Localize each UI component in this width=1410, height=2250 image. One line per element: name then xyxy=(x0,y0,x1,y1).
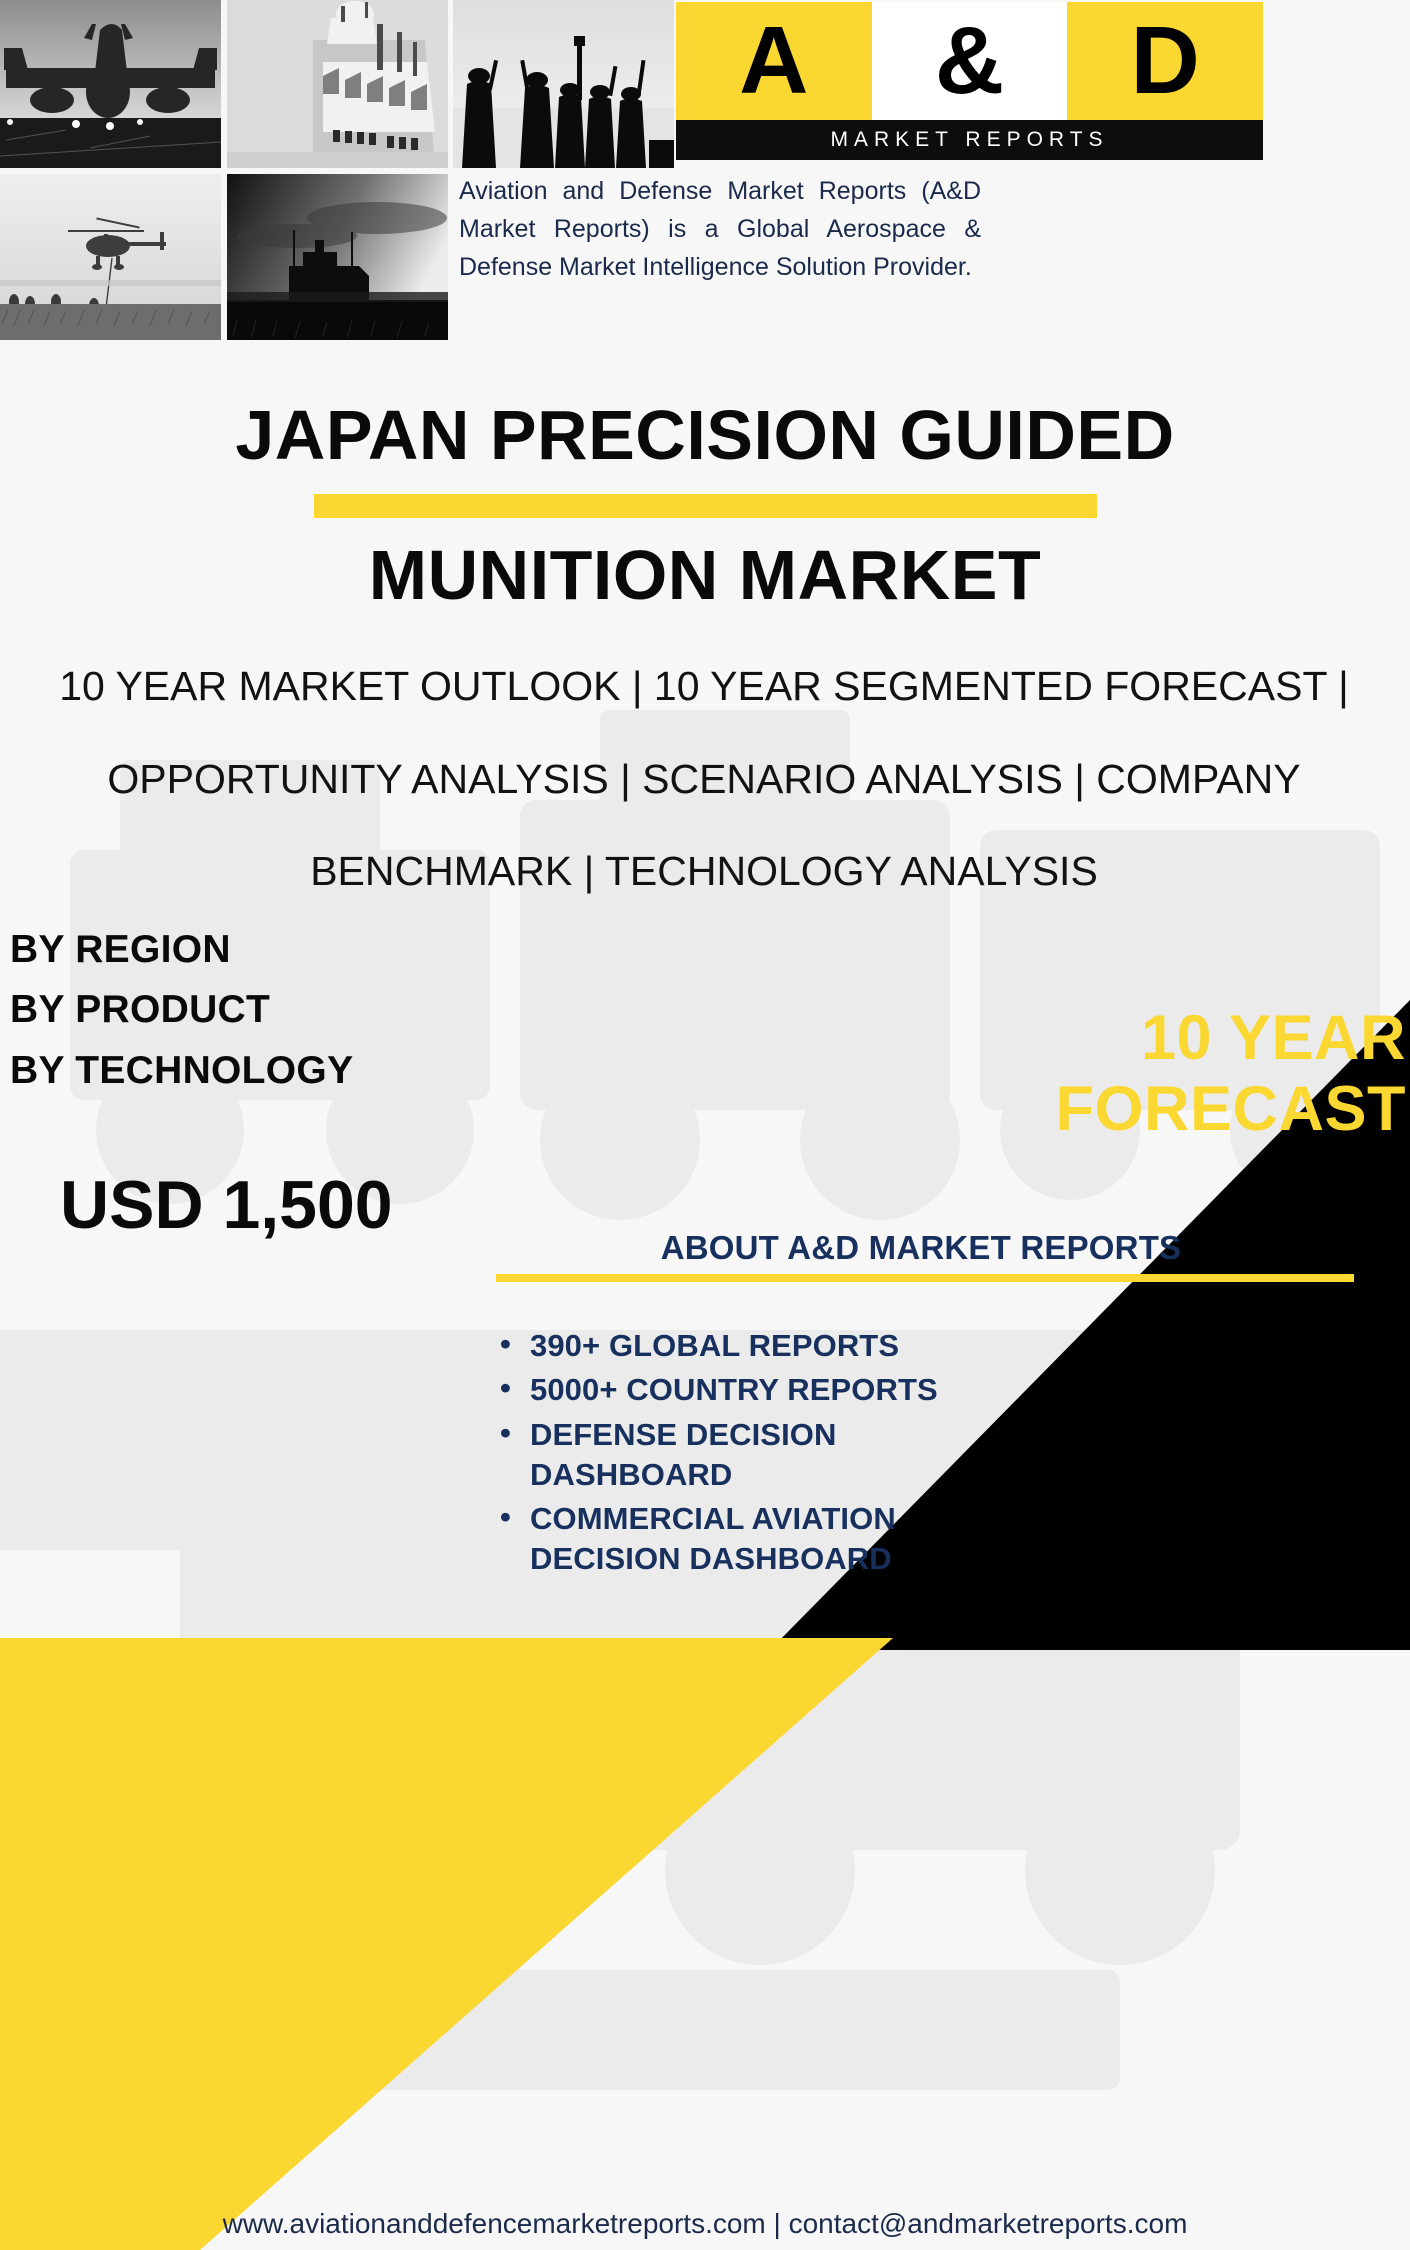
about-heading: ABOUT A&D MARKET REPORTS xyxy=(462,1229,1380,1267)
logo-tagline: MARKET REPORTS xyxy=(676,120,1263,160)
segmentation-list: BY REGION BY PRODUCT BY TECHNOLOGY xyxy=(10,920,353,1101)
forecast-line-1: 10 YEAR xyxy=(626,1003,1406,1074)
photo-collage xyxy=(0,0,678,340)
about-bullet-country-reports: 5000+ COUNTRY REPORTS xyxy=(492,1370,1380,1410)
segmentation-item-product: BY PRODUCT xyxy=(10,980,353,1040)
military-helicopter-photo xyxy=(0,174,221,340)
logo-letter-d: D xyxy=(1067,2,1263,120)
company-intro-text: Aviation and Defense Market Reports (A&D… xyxy=(459,172,981,286)
logo-letter-a: A xyxy=(676,2,872,120)
armored-vehicle-photo xyxy=(227,174,448,340)
logo-letter-ampersand: & xyxy=(872,2,1068,120)
page-title-line-1: JAPAN PRECISION GUIDED xyxy=(0,398,1410,472)
about-yellow-rule xyxy=(496,1274,1354,1282)
fighter-jet-on-carrier-photo xyxy=(0,0,221,168)
naval-warship-photo xyxy=(227,0,448,168)
ad-market-reports-logo: A & D MARKET REPORTS xyxy=(676,2,1263,160)
about-bullet-commercial-aviation-dashboard: COMMERCIAL AVIATION DECISION DASHBOARD xyxy=(492,1499,952,1580)
about-bullet-global-reports: 390+ GLOBAL REPORTS xyxy=(492,1326,1380,1366)
segmentation-item-technology: BY TECHNOLOGY xyxy=(10,1041,353,1101)
forecast-badge: 10 YEAR FORECAST xyxy=(626,1003,1406,1144)
about-bullet-list: 390+ GLOBAL REPORTS 5000+ COUNTRY REPORT… xyxy=(492,1326,1380,1580)
soldiers-silhouette-photo xyxy=(453,0,674,168)
footer-contact[interactable]: www.aviationanddefencemarketreports.com … xyxy=(0,2208,1410,2240)
logo-letter-row: A & D xyxy=(676,2,1263,120)
segmentation-item-region: BY REGION xyxy=(10,920,353,980)
about-bullet-defense-dashboard: DEFENSE DECISION DASHBOARD xyxy=(492,1415,952,1496)
price-label: USD 1,500 xyxy=(60,1166,393,1244)
title-yellow-rule xyxy=(314,494,1097,518)
forecast-line-2: FORECAST xyxy=(626,1074,1406,1145)
about-section: ABOUT A&D MARKET REPORTS 390+ GLOBAL REP… xyxy=(462,1229,1380,1584)
page-title-line-2: MUNITION MARKET xyxy=(0,538,1410,612)
page-title: JAPAN PRECISION GUIDED MUNITION MARKET xyxy=(0,398,1410,612)
report-scope-subtitle: 10 YEAR MARKET OUTLOOK | 10 YEAR SEGMENT… xyxy=(30,640,1378,918)
